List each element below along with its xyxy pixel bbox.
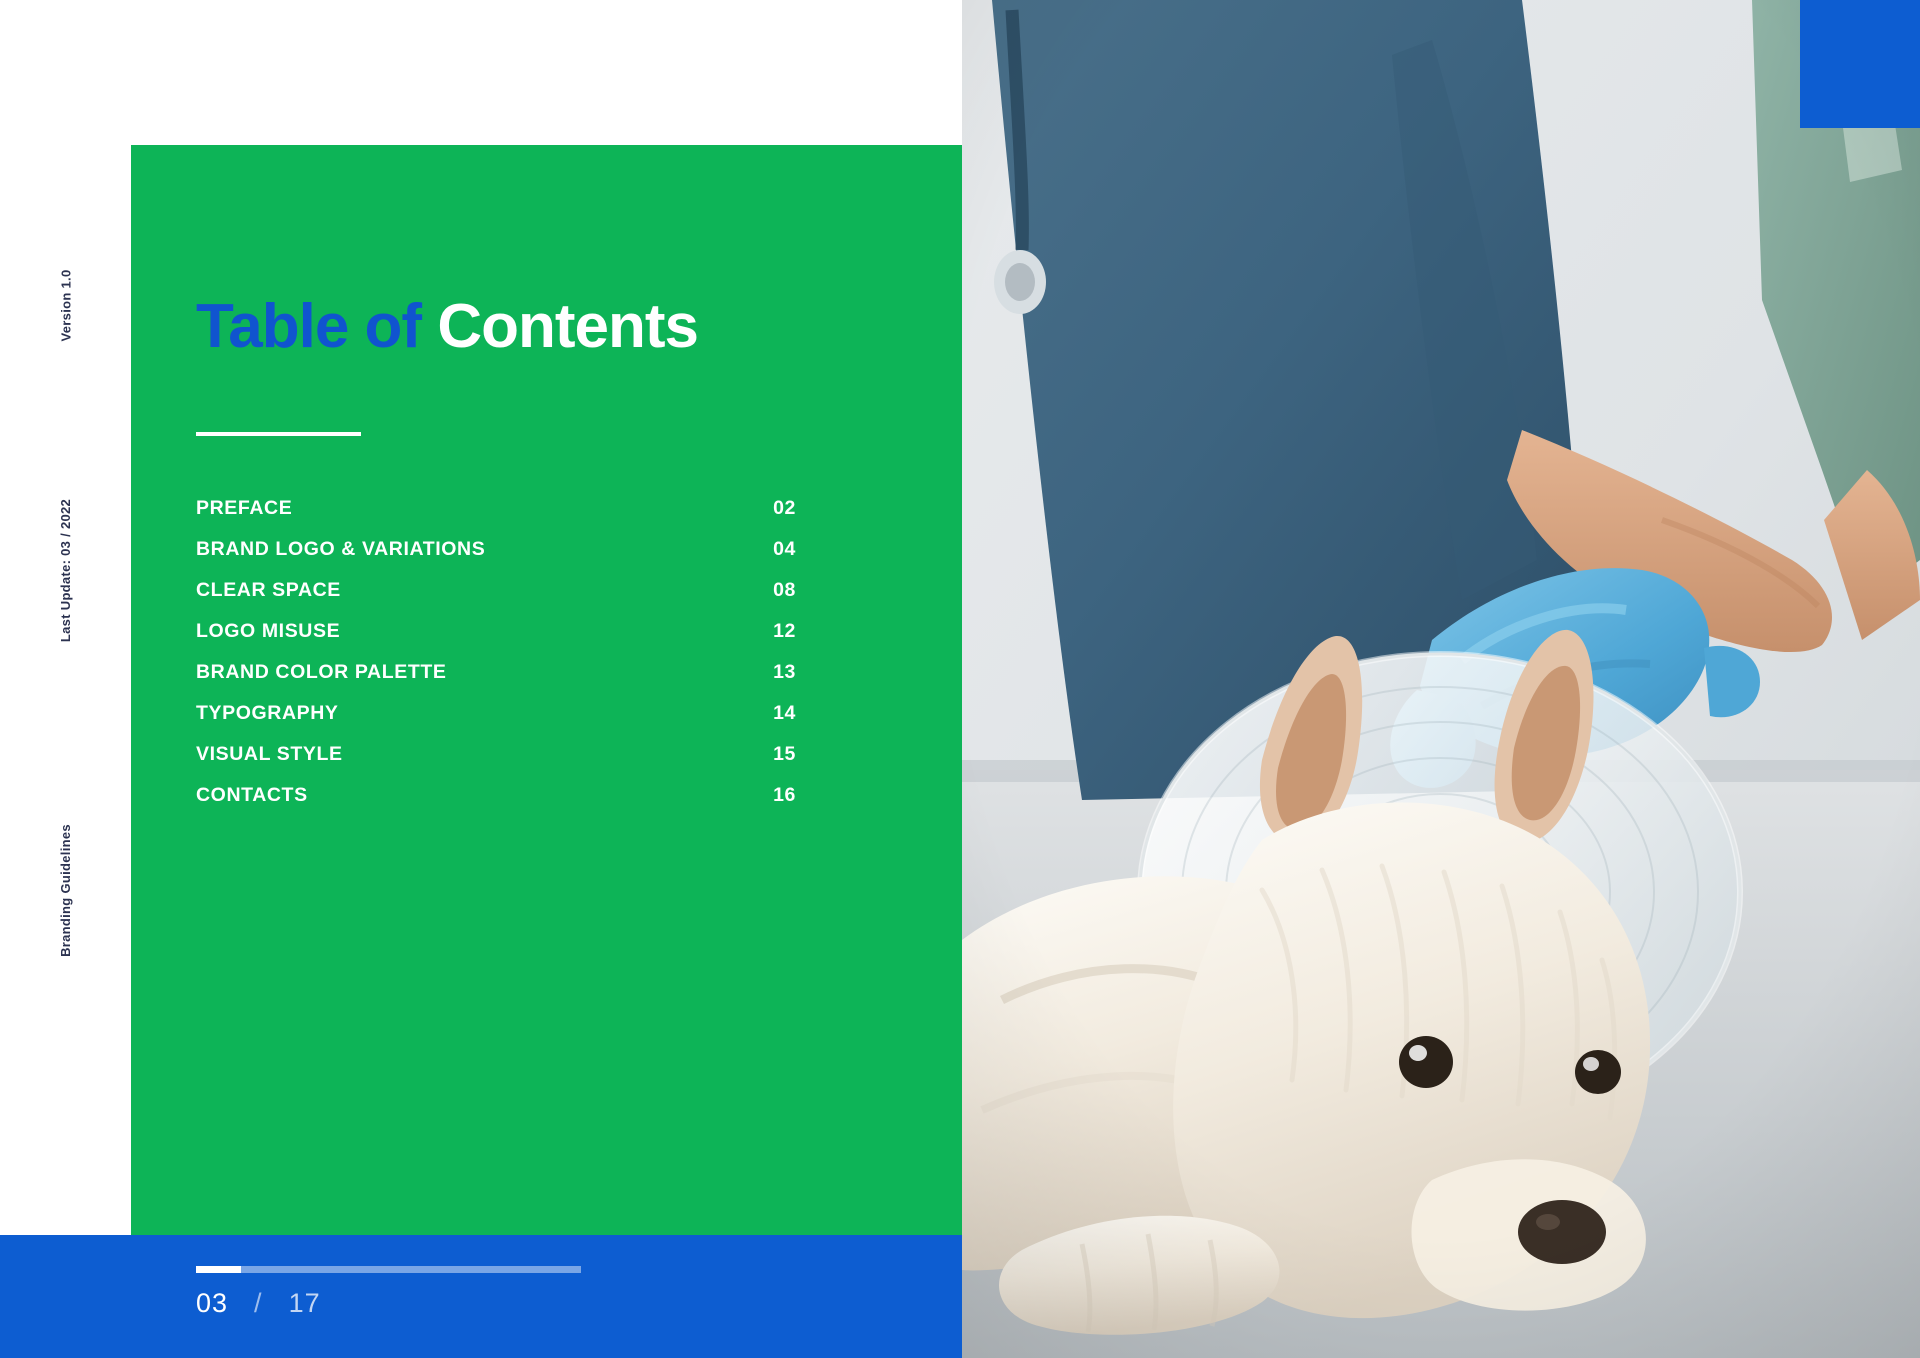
meta-branding-guidelines: Branding Guidelines <box>0 790 131 990</box>
page-title-rest: Contents <box>437 292 698 361</box>
list-item[interactable]: VISUAL STYLE 15 <box>196 743 796 784</box>
page-indicator-separator: / <box>254 1288 263 1319</box>
list-item[interactable]: PREFACE 02 <box>196 497 796 538</box>
list-item[interactable]: TYPOGRAPHY 14 <box>196 702 796 743</box>
toc-item-page: 14 <box>756 702 796 725</box>
page-indicator-current: 03 <box>196 1288 228 1319</box>
list-item[interactable]: CLEAR SPACE 08 <box>196 579 796 620</box>
toc-item-page: 02 <box>756 497 796 520</box>
table-of-contents-list: PREFACE 02 BRAND LOGO & VARIATIONS 04 CL… <box>196 497 796 825</box>
page-title-accent: Table of <box>196 292 421 361</box>
toc-item-label: PREFACE <box>196 497 756 520</box>
list-item[interactable]: LOGO MISUSE 12 <box>196 620 796 661</box>
page-progress-fill <box>196 1266 241 1273</box>
toc-item-label: CLEAR SPACE <box>196 579 756 602</box>
slide-page: Table of Contents PREFACE 02 BRAND LOGO … <box>0 0 1920 1358</box>
accent-square-blue <box>1800 0 1920 128</box>
list-item[interactable]: BRAND COLOR PALETTE 13 <box>196 661 796 702</box>
toc-item-page: 08 <box>756 579 796 602</box>
page-progress-track[interactable] <box>196 1266 581 1273</box>
toc-item-label: BRAND LOGO & VARIATIONS <box>196 538 756 561</box>
toc-item-label: VISUAL STYLE <box>196 743 756 766</box>
veterinarian-with-dog-illustration <box>962 0 1920 1358</box>
toc-item-label: TYPOGRAPHY <box>196 702 756 725</box>
meta-version: Version 1.0 <box>0 240 131 370</box>
footer-bar <box>0 1235 962 1358</box>
list-item[interactable]: BRAND LOGO & VARIATIONS 04 <box>196 538 796 579</box>
meta-last-update: Last Update: 03 / 2022 <box>0 470 131 670</box>
toc-item-label: CONTACTS <box>196 784 756 807</box>
toc-item-label: BRAND COLOR PALETTE <box>196 661 756 684</box>
meta-version-label: Version 1.0 <box>58 269 73 341</box>
title-underline-rule <box>196 432 361 436</box>
page-indicator-total: 17 <box>289 1288 321 1319</box>
toc-item-page: 04 <box>756 538 796 561</box>
toc-item-page: 12 <box>756 620 796 643</box>
page-title: Table of Contents <box>196 296 698 358</box>
list-item[interactable]: CONTACTS 16 <box>196 784 796 825</box>
toc-item-label: LOGO MISUSE <box>196 620 756 643</box>
toc-item-page: 15 <box>756 743 796 766</box>
meta-last-update-label: Last Update: 03 / 2022 <box>58 498 73 641</box>
page-indicator: 03 / 17 <box>196 1288 321 1319</box>
toc-item-page: 13 <box>756 661 796 684</box>
meta-branding-label: Branding Guidelines <box>58 824 73 957</box>
toc-item-page: 16 <box>756 784 796 807</box>
hero-photo <box>962 0 1920 1358</box>
